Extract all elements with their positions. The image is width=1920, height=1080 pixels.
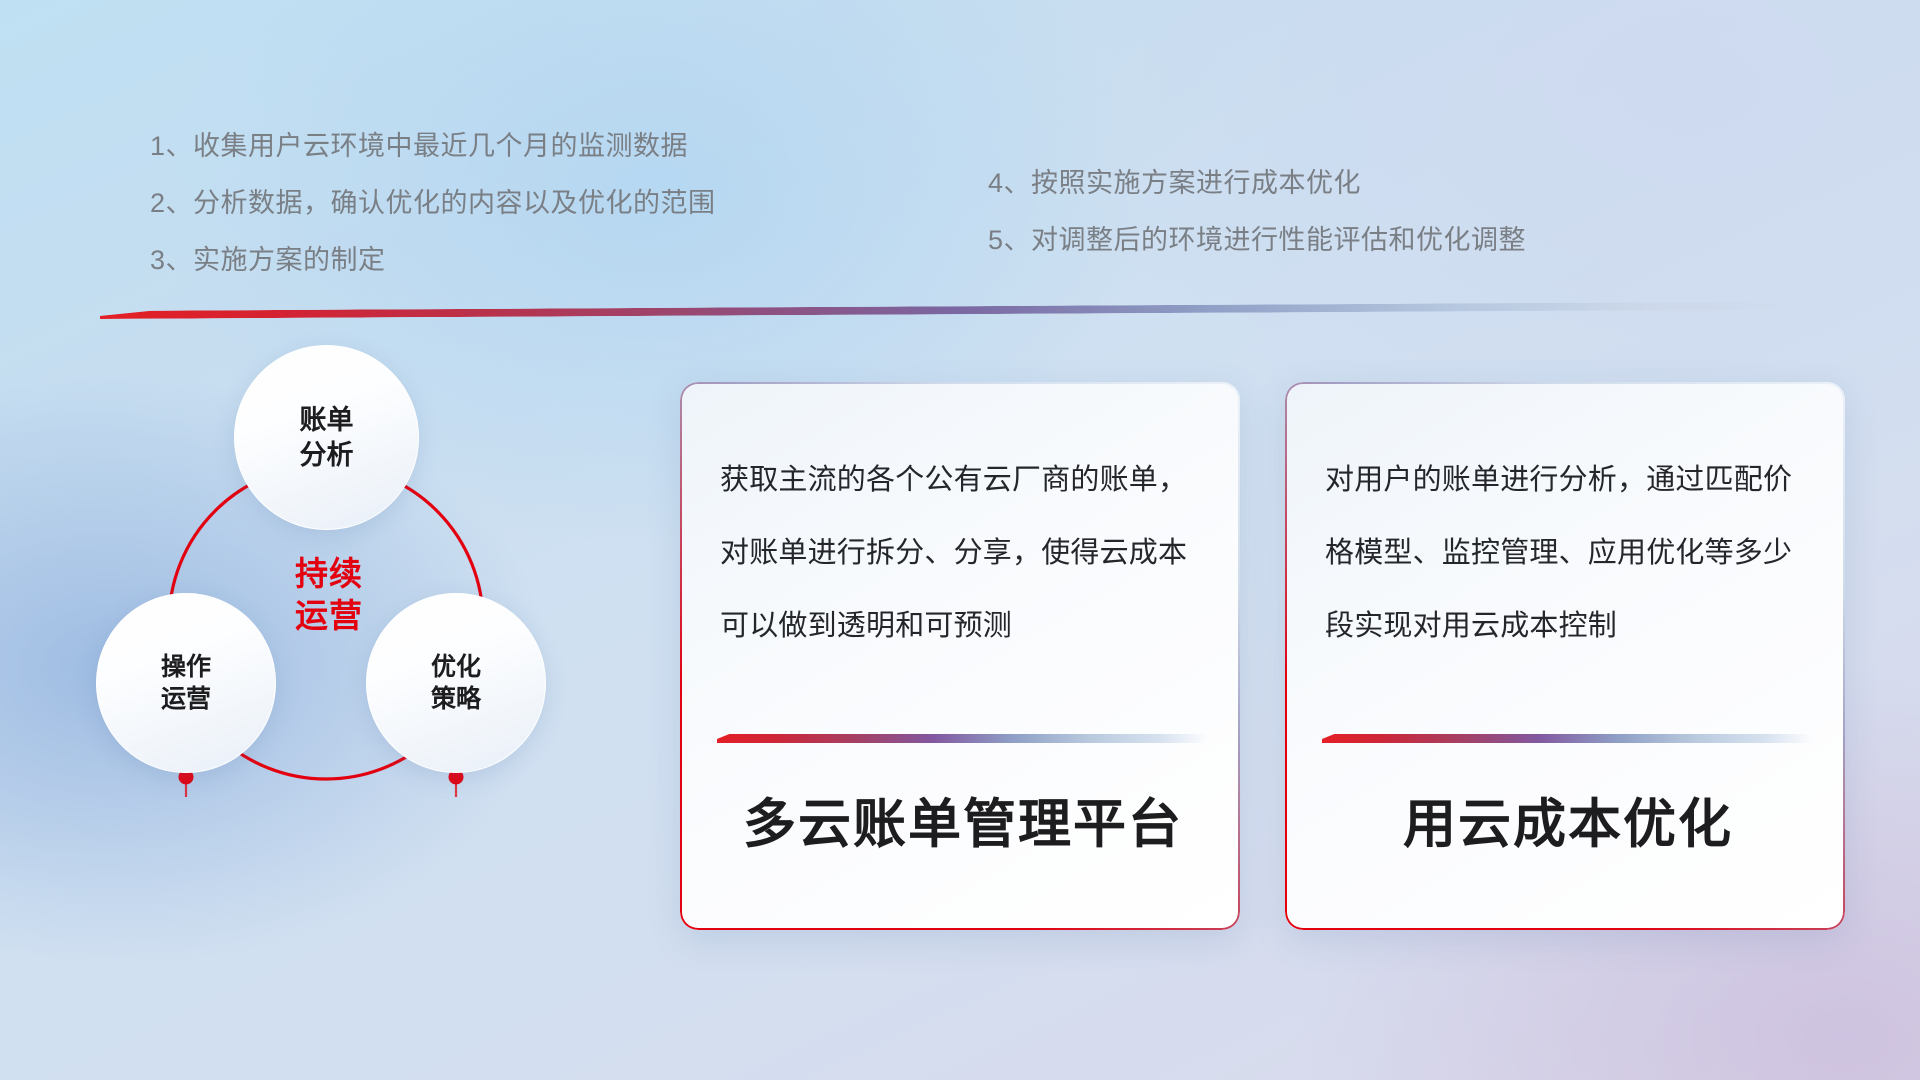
card-2-body: 对用户的账单进行分析，通过匹配价格模型、监控管理、应用优化等多少段实现对用云成本…	[1325, 444, 1809, 663]
step-item-4: 4、按照实施方案进行成本优化	[988, 155, 1526, 212]
bubble-left-line1: 操作	[161, 651, 211, 683]
card-2-title: 用云成本优化	[1323, 782, 1813, 858]
center-label-line2: 运营	[254, 595, 404, 637]
card-2-rule	[1322, 734, 1813, 743]
divider-bar	[100, 301, 1820, 319]
slide-canvas: 1、收集用户云环境中最近几个月的监测数据 2、分析数据，确认优化的内容以及优化的…	[0, 0, 1920, 1080]
feature-card-cost-optimization[interactable]: 对用户的账单进行分析，通过匹配价格模型、监控管理、应用优化等多少段实现对用云成本…	[1285, 382, 1845, 930]
card-1-title: 多云账单管理平台	[718, 782, 1208, 858]
center-label-line1: 持续	[254, 553, 404, 595]
step-item-2: 2、分析数据，确认优化的内容以及优化的范围	[150, 175, 716, 232]
bubble-top-line1: 账单	[300, 403, 354, 438]
bubble-left-line2: 运营	[161, 683, 211, 715]
step-list-left: 1、收集用户云环境中最近几个月的监测数据 2、分析数据，确认优化的内容以及优化的…	[150, 118, 716, 289]
bubble-right-line1: 优化	[431, 651, 481, 683]
cycle-center-label: 持续 运营	[254, 553, 404, 636]
step-item-1: 1、收集用户云环境中最近几个月的监测数据	[150, 118, 716, 175]
step-list-right: 4、按照实施方案进行成本优化 5、对调整后的环境进行性能评估和优化调整	[988, 155, 1526, 269]
bubble-top-line2: 分析	[300, 438, 354, 473]
feature-card-multicloud-billing[interactable]: 获取主流的各个公有云厂商的账单，对账单进行拆分、分享，使得云成本可以做到透明和可…	[680, 382, 1240, 930]
cycle-diagram: 账单 分析 操作 运营 优化 策略 持续 运营	[96, 345, 656, 945]
section-divider	[100, 298, 1820, 321]
card-1-body: 获取主流的各个公有云厂商的账单，对账单进行拆分、分享，使得云成本可以做到透明和可…	[720, 444, 1204, 663]
bubble-operations[interactable]: 操作 运营	[96, 593, 276, 773]
step-item-3: 3、实施方案的制定	[150, 232, 716, 289]
bubble-right-line2: 策略	[431, 683, 481, 715]
bubble-billing-analysis[interactable]: 账单 分析	[234, 345, 419, 530]
card-1-rule	[717, 734, 1208, 743]
step-item-5: 5、对调整后的环境进行性能评估和优化调整	[988, 212, 1526, 269]
